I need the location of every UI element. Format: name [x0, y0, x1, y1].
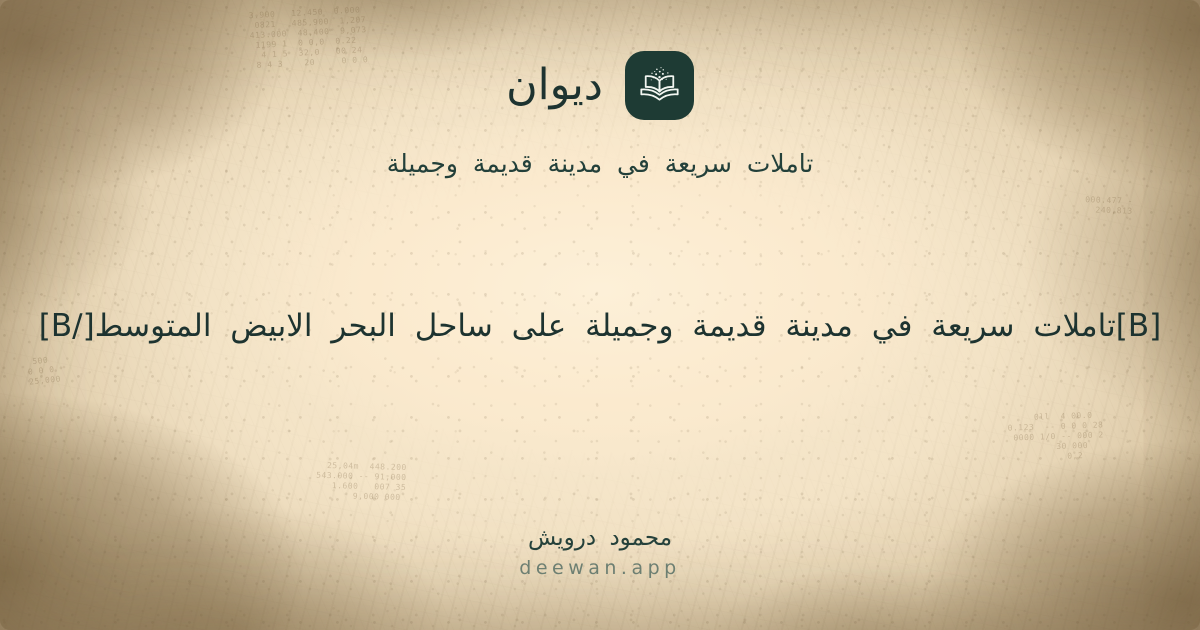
card-content: ديوان تاملات سريعة في مدينة قديمة وجميلة…: [0, 0, 1200, 630]
open-book-sparkles-icon: [625, 51, 694, 120]
card-subtitle: تاملات سريعة في مدينة قديمة وجميلة: [387, 147, 814, 181]
share-card: 0.000 12.450 3.900 1,207 485,900 0821 9,…: [0, 0, 1200, 630]
card-footer: محمود درويش deewan.app: [0, 527, 1200, 578]
brand-wordmark: ديوان: [506, 64, 603, 107]
author-name: محمود درويش: [528, 527, 672, 550]
brand-lockup: ديوان: [506, 51, 694, 120]
site-url: deewan.app: [519, 559, 680, 578]
